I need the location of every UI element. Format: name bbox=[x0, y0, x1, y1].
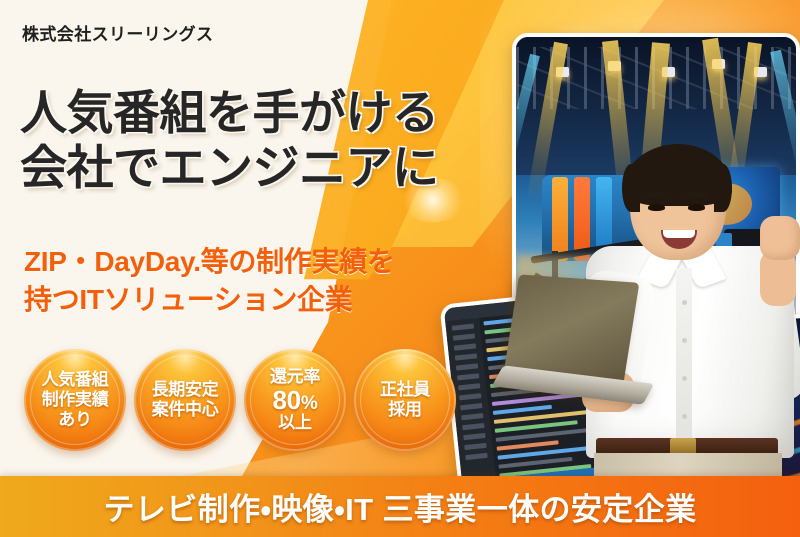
badge-percent-sign: % bbox=[301, 393, 318, 414]
badge-long-term-stable: 長期安定 案件中心 bbox=[134, 349, 236, 451]
feature-badges: 人気番組 制作実績 あり 長期安定 案件中心 還元率 80% 以上 正社員 採用 bbox=[24, 349, 456, 451]
badge-line-2: 案件中心 bbox=[152, 400, 219, 420]
recruitment-banner: 株式会社スリーリングス 人気番組を手がける 会社でエンジニアに ZIP・DayD… bbox=[0, 0, 800, 537]
badge-text: 正社員 採用 bbox=[380, 380, 430, 419]
shirt-button bbox=[682, 414, 687, 419]
badge-line-3: 以上 bbox=[270, 413, 320, 433]
badge-text: 還元率 80% 以上 bbox=[270, 367, 320, 433]
hair-side-right bbox=[714, 164, 732, 212]
subheadline-line-2: 持つITソリューション企業 bbox=[24, 281, 494, 319]
badge-popular-program: 人気番組 制作実績 あり bbox=[24, 349, 126, 451]
shirt-button bbox=[682, 300, 687, 305]
badge-line-3: あり bbox=[42, 410, 109, 430]
badge-big-number: 80% bbox=[270, 387, 320, 414]
headline-line-1: 人気番組を手がける bbox=[20, 85, 540, 140]
badge-return-rate: 還元率 80% 以上 bbox=[244, 349, 346, 451]
badge-text: 人気番組 制作実績 あり bbox=[42, 370, 109, 429]
badge-line-1: 長期安定 bbox=[152, 380, 219, 400]
bottom-banner-bar: テレビ制作・映像・IT 三事業一体の安定企業 bbox=[0, 476, 800, 537]
eye-right bbox=[688, 204, 705, 211]
badge-number-value: 80 bbox=[273, 385, 301, 415]
laptop-icon bbox=[497, 278, 659, 410]
badge-fulltime-hiring: 正社員 採用 bbox=[354, 349, 456, 451]
eye-left bbox=[648, 204, 665, 211]
hair-side-left bbox=[622, 164, 640, 212]
badge-line-1: 正社員 bbox=[380, 380, 430, 400]
badge-text: 長期安定 案件中心 bbox=[152, 380, 219, 419]
badge-line-1: 人気番組 bbox=[42, 370, 109, 390]
headline-line-2: 会社でエンジニアに bbox=[20, 140, 540, 195]
shirt-button bbox=[682, 376, 687, 381]
badge-line-2: 採用 bbox=[380, 400, 430, 420]
headline: 人気番組を手がける 会社でエンジニアに bbox=[20, 85, 540, 196]
shirt-button bbox=[682, 338, 687, 343]
company-name: 株式会社スリーリングス bbox=[22, 20, 213, 45]
bottom-banner-text: テレビ制作・映像・IT 三事業一体の安定企業 bbox=[103, 484, 696, 529]
badge-line-2: 制作実績 bbox=[42, 390, 109, 410]
subheadline: ZIP・DayDay.等の制作実績を 持つITソリューション企業 bbox=[24, 243, 494, 318]
raised-fist bbox=[760, 216, 800, 260]
subheadline-line-1: ZIP・DayDay.等の制作実績を bbox=[24, 243, 494, 281]
